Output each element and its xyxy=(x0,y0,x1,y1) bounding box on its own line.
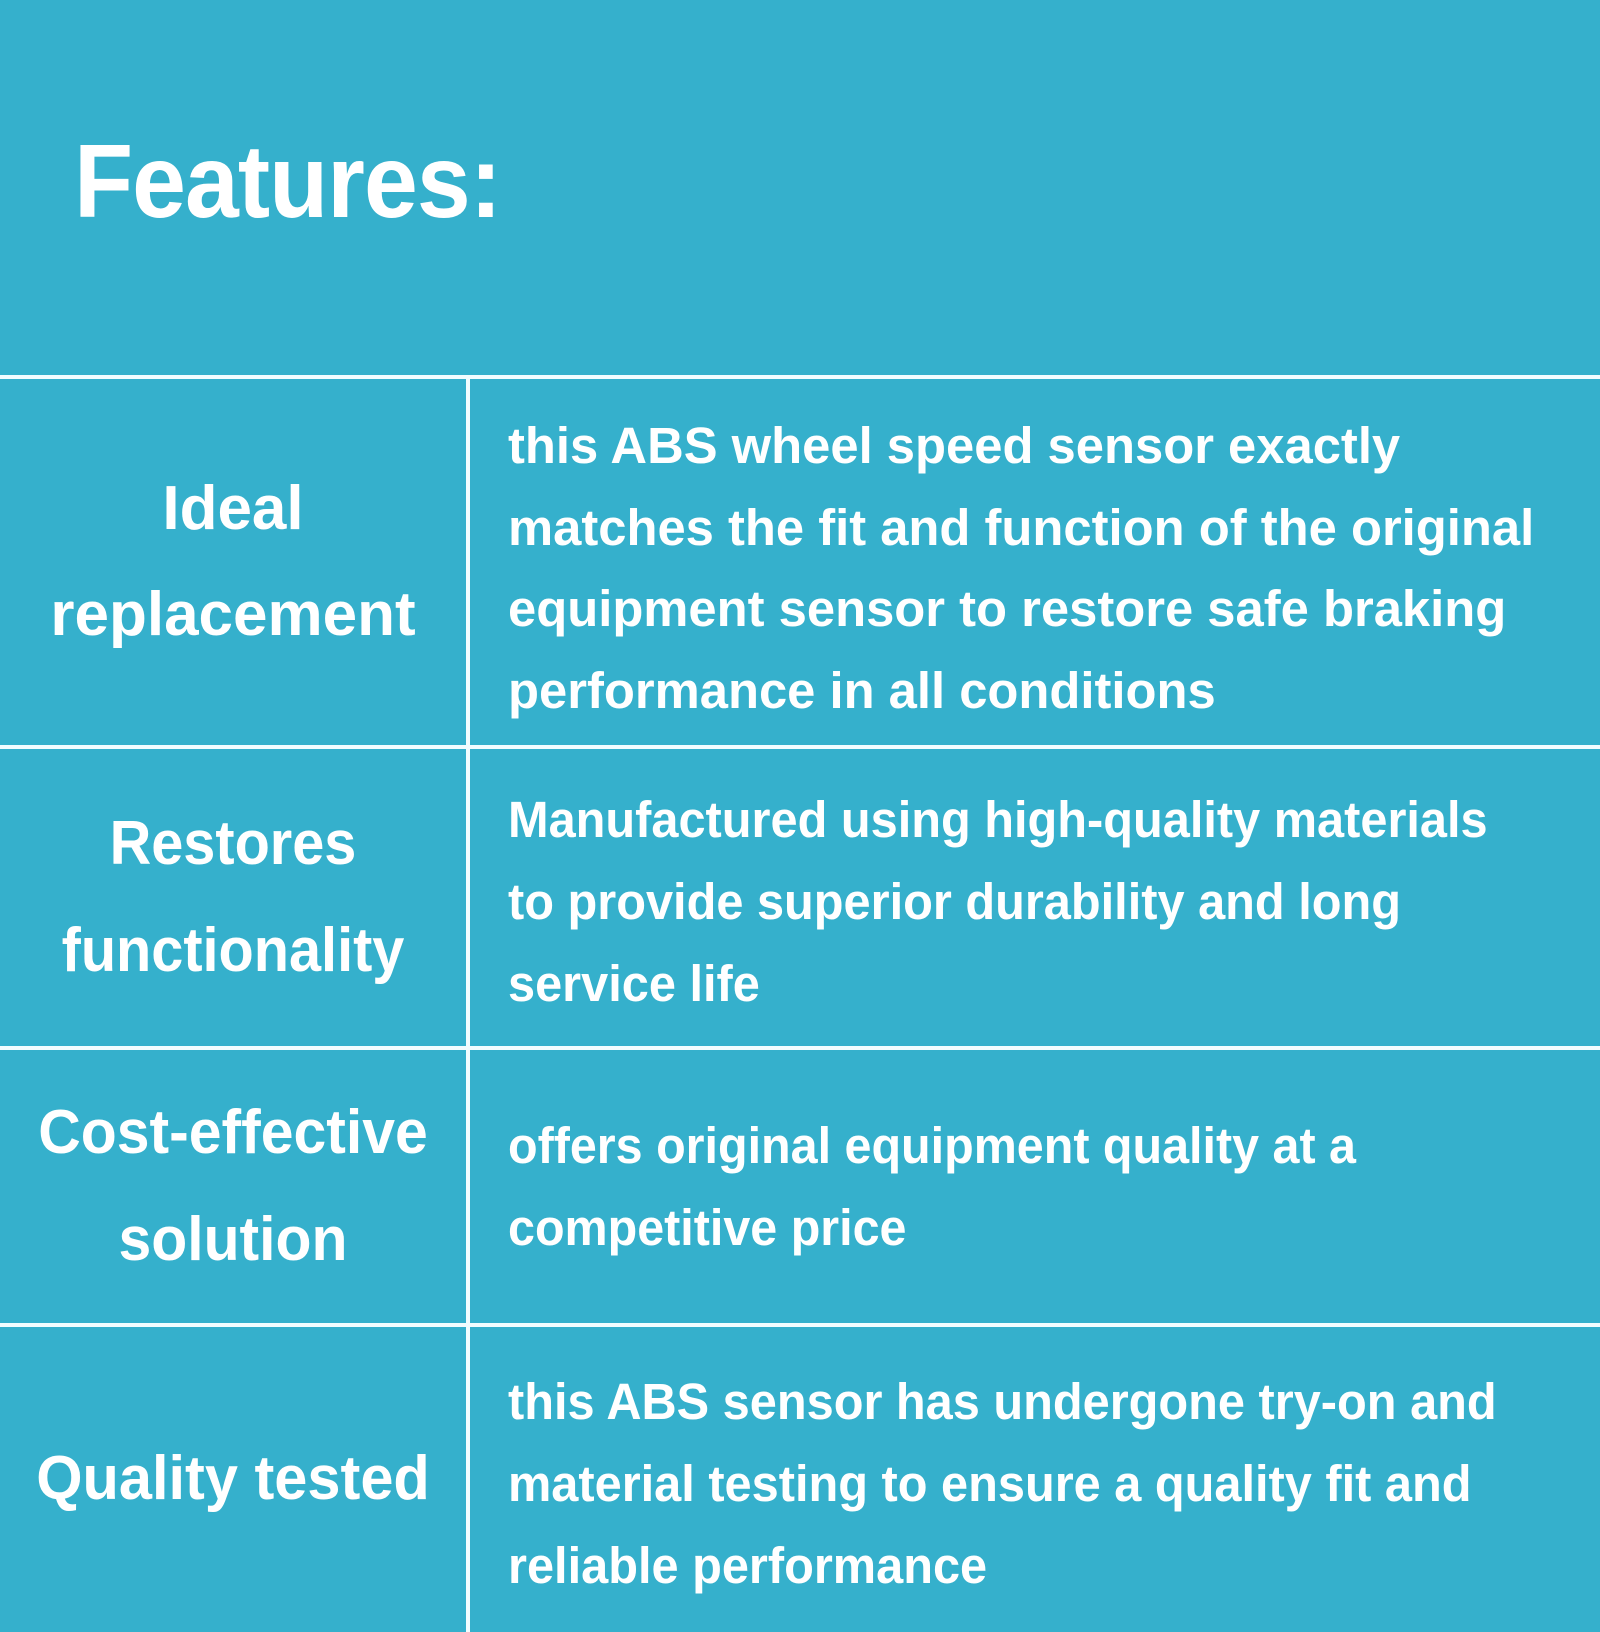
feature-description: Manufactured using high-quality material… xyxy=(508,779,1499,1024)
feature-label: Quality tested xyxy=(30,1426,435,1533)
feature-description: offers original equipment quality at a c… xyxy=(508,1105,1494,1268)
feature-label-cell: Quality tested xyxy=(0,1325,468,1632)
feature-description: this ABS sensor has undergone try-on and… xyxy=(508,1361,1499,1606)
feature-description: this ABS wheel speed sensor exactly matc… xyxy=(508,405,1541,731)
page-title: Features: xyxy=(74,126,501,238)
table-row: Cost-effective solution offers original … xyxy=(0,1048,1600,1325)
feature-description-cell: this ABS wheel speed sensor exactly matc… xyxy=(468,377,1600,747)
table-row: Quality tested this ABS sensor has under… xyxy=(0,1325,1600,1632)
features-table: Ideal replacement this ABS wheel speed s… xyxy=(0,375,1600,1632)
feature-label-cell: Restores functionality xyxy=(0,747,468,1048)
feature-label-cell: Ideal replacement xyxy=(0,377,468,747)
feature-description-cell: Manufactured using high-quality material… xyxy=(468,747,1600,1048)
table-row: Restores functionality Manufactured usin… xyxy=(0,747,1600,1048)
feature-description-cell: this ABS sensor has undergone try-on and… xyxy=(468,1325,1600,1632)
feature-list-page: Features: Ideal replacement this ABS whe… xyxy=(0,0,1600,1600)
feature-description-cell: offers original equipment quality at a c… xyxy=(468,1048,1600,1325)
feature-label-cell: Cost-effective solution xyxy=(0,1048,468,1325)
feature-label: Restores functionality xyxy=(37,791,429,1004)
feature-label: Ideal replacement xyxy=(22,456,444,669)
feature-label: Cost-effective solution xyxy=(33,1080,434,1293)
table-row: Ideal replacement this ABS wheel speed s… xyxy=(0,377,1600,747)
